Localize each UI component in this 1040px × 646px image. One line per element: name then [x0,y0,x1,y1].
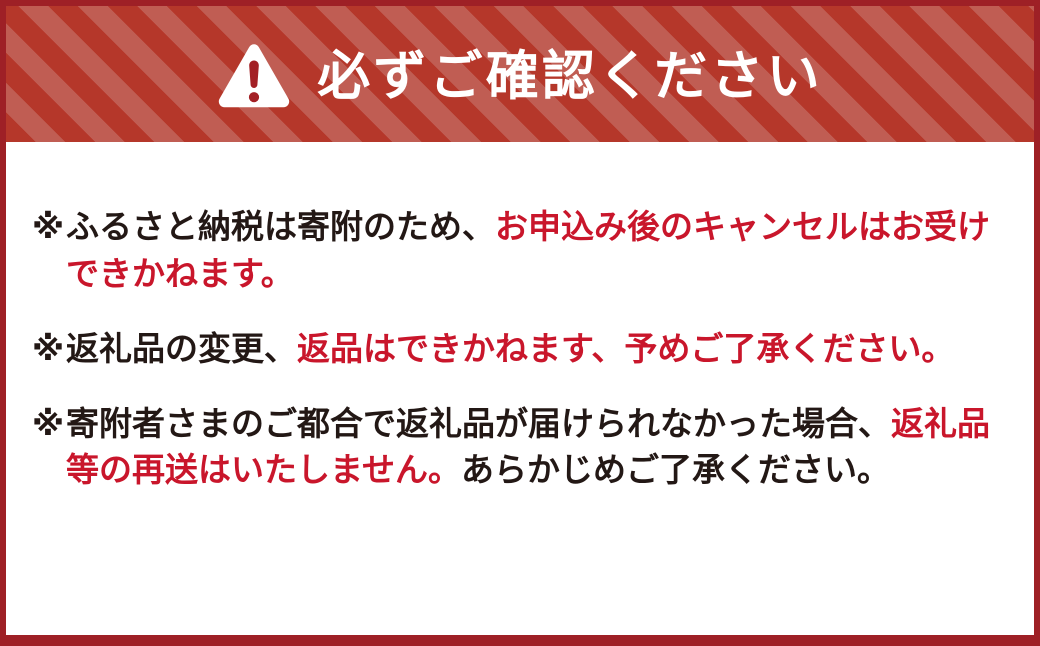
header-content: 必ずご確認ください [217,43,823,109]
notice-item: ※ふるさと納税は寄附のため、お申込み後のキャンセルはお受けできかねます。 [32,204,1014,298]
notice-item: ※寄附者さまのご都合で返礼品が届けられなかった場合、返礼品等の再送はいたしません… [32,401,1014,495]
notice-body: ※ふるさと納税は寄附のため、お申込み後のキャンセルはお受けできかねます。 ※返礼… [6,142,1034,635]
notice-card: 必ずご確認ください ※ふるさと納税は寄附のため、お申込み後のキャンセルはお受けで… [0,0,1040,646]
notice-bullet: ※ [32,204,66,251]
notice-header-banner: 必ずご確認ください [6,6,1034,142]
card-border-bottom [0,635,1040,646]
notice-text-plain: 返礼品の変更、 [66,330,297,367]
notice-text-plain-tail: あらかじめご了承ください。 [461,451,890,488]
notice-text-emphasis: 返品はできかねます、予めご了承ください。 [297,330,954,367]
notice-text-plain: ふるさと納税は寄附のため、 [66,208,495,245]
notice-bullet: ※ [32,326,66,373]
notice-text-plain: 寄附者さまのご都合で返礼品が届けられなかった場合、 [66,405,891,442]
warning-triangle-icon [217,43,291,109]
notice-bullet: ※ [32,401,66,448]
card-border-right [1034,0,1040,646]
notice-item: ※返礼品の変更、返品はできかねます、予めご了承ください。 [32,326,1014,373]
header-title: 必ずご確認ください [317,50,823,103]
